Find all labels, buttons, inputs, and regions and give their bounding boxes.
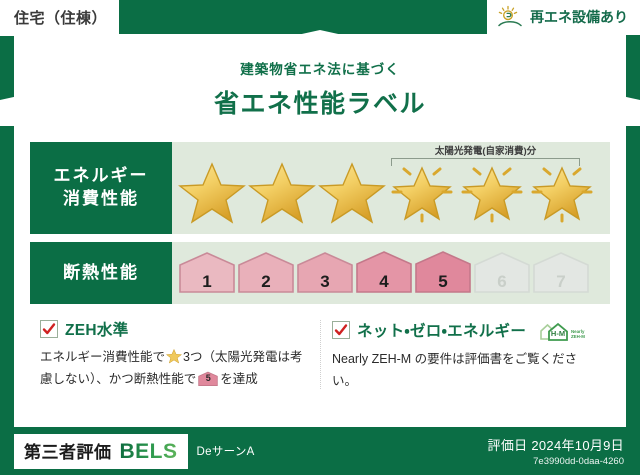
insulation-grade-5: 5 <box>414 251 472 295</box>
note-nze-header: ネット・ゼロ・エネルギー H-M Nearly ZEH-M <box>332 318 600 342</box>
insulation-grade-1: 1 <box>178 251 236 295</box>
notes-section: ZEH水準 エネルギー消費性能で3つ（太陽光発電は考慮しない）、かつ断熱性能で5… <box>28 318 612 393</box>
energy-key-line1: エネルギー <box>54 165 149 188</box>
note-zeh-body-part1: エネルギー消費性能で <box>40 350 165 364</box>
note-zeh-body-part3: を達成 <box>220 372 258 386</box>
energy-star <box>248 158 316 226</box>
energy-star-solar <box>528 158 596 226</box>
insulation-performance-key: 断熱性能 <box>30 242 172 304</box>
note-zeh-star-count: 3つ <box>183 350 202 364</box>
bels-wordmark: BELS <box>120 440 178 464</box>
renewable-equipment-badge: 再エネ設備あり <box>487 0 640 35</box>
footer-meta: 評価日 2024年10月9日 7e3990dd-0daa-4260 <box>488 435 624 467</box>
evaluation-date-value: 2024年10月9日 <box>531 438 624 453</box>
insulation-grade-number: 2 <box>237 272 295 292</box>
bels-certification-badge: 第三者評価 BELS <box>14 434 188 469</box>
insulation-key-label: 断熱性能 <box>63 262 139 285</box>
note-zeh-title: ZEH水準 <box>65 318 129 340</box>
insulation-grade-7: 7 <box>532 251 590 295</box>
check-icon <box>332 321 350 339</box>
insulation-grade-number: 6 <box>473 272 531 292</box>
metric-rows: エネルギー 消費性能 太陽光発電(自家消費)分 <box>30 142 610 304</box>
insulation-grade-2: 2 <box>237 251 295 295</box>
heading-title: 省エネ性能ラベル <box>14 84 626 120</box>
insulation-performance-row: 断熱性能 1 2 3 <box>30 242 610 304</box>
evaluation-date-label: 評価日 <box>488 438 528 453</box>
inline-grade-badge: 5 <box>198 371 218 387</box>
plan-name: DeサーンA <box>197 443 255 459</box>
nearly-zeh-m-house-logo: H-M Nearly ZEH-M <box>537 318 589 342</box>
insulation-grade-number: 1 <box>178 272 236 292</box>
check-icon <box>40 320 58 338</box>
svg-text:H-M: H-M <box>551 329 565 338</box>
heading-subtitle: 建築物省エネ法に基づく <box>14 58 626 78</box>
insulation-grade-scale: 1 2 3 4 <box>172 251 590 295</box>
note-nze-title: ネット・ゼロ・エネルギー <box>357 319 526 341</box>
insulation-grade-number: 3 <box>296 272 354 292</box>
note-zeh-header: ZEH水準 <box>40 318 308 340</box>
third-party-label: 第三者評価 <box>24 438 112 463</box>
insulation-grade-6: 6 <box>473 251 531 295</box>
insulation-grade-4: 4 <box>355 251 413 295</box>
label-uid: 7e3990dd-0daa-4260 <box>488 456 624 467</box>
label-card: 建築物省エネ法に基づく 省エネ性能ラベル エネルギー 消費性能 太陽光発電(自家… <box>14 34 626 427</box>
energy-performance-label: 住宅（住棟） 再エネ設備あり 建築物省エネ法に基づく 省エネ性能ラベル <box>0 0 640 475</box>
inline-star-icon <box>166 348 182 364</box>
energy-star-solar <box>458 158 526 226</box>
sun-renewable-icon <box>497 5 523 29</box>
energy-star <box>318 158 386 226</box>
energy-star-rating <box>172 158 596 226</box>
svg-text:ZEH-M: ZEH-M <box>571 334 585 339</box>
note-zeh-body: エネルギー消費性能で3つ（太陽光発電は考慮しない）、かつ断熱性能で5を達成 <box>40 347 308 391</box>
renewable-equipment-label: 再エネ設備あり <box>530 7 628 27</box>
insulation-performance-value: 1 2 3 4 <box>172 242 610 304</box>
note-nze-body: Nearly ZEH-M の要件は評価書をご覧ください。 <box>332 349 600 393</box>
energy-key-line2: 消費性能 <box>63 188 139 211</box>
energy-performance-row: エネルギー 消費性能 太陽光発電(自家消費)分 <box>30 142 610 234</box>
energy-performance-value: 太陽光発電(自家消費)分 <box>172 142 610 234</box>
energy-performance-key: エネルギー 消費性能 <box>30 142 172 234</box>
insulation-grade-number: 4 <box>355 272 413 292</box>
note-zeh-standard: ZEH水準 エネルギー消費性能で3つ（太陽光発電は考慮しない）、かつ断熱性能で5… <box>28 318 320 393</box>
insulation-grade-number: 7 <box>532 272 590 292</box>
inline-grade-number: 5 <box>198 371 218 387</box>
note-net-zero-energy: ネット・ゼロ・エネルギー H-M Nearly ZEH-M Nearly ZEH… <box>320 318 612 393</box>
insulation-grade-number: 5 <box>414 272 472 292</box>
energy-star <box>178 158 246 226</box>
building-type-label: 住宅（住棟） <box>14 10 107 27</box>
label-footer: 第三者評価 BELS DeサーンA 評価日 2024年10月9日 7e3990d… <box>0 427 640 475</box>
building-type-badge: 住宅（住棟） <box>0 0 119 36</box>
energy-star-solar <box>388 158 456 226</box>
insulation-grade-3: 3 <box>296 251 354 295</box>
solar-contribution-note: 太陽光発電(自家消費)分 <box>391 143 580 157</box>
label-heading: 建築物省エネ法に基づく 省エネ性能ラベル <box>14 34 626 120</box>
evaluation-date: 評価日 2024年10月9日 <box>488 435 624 454</box>
